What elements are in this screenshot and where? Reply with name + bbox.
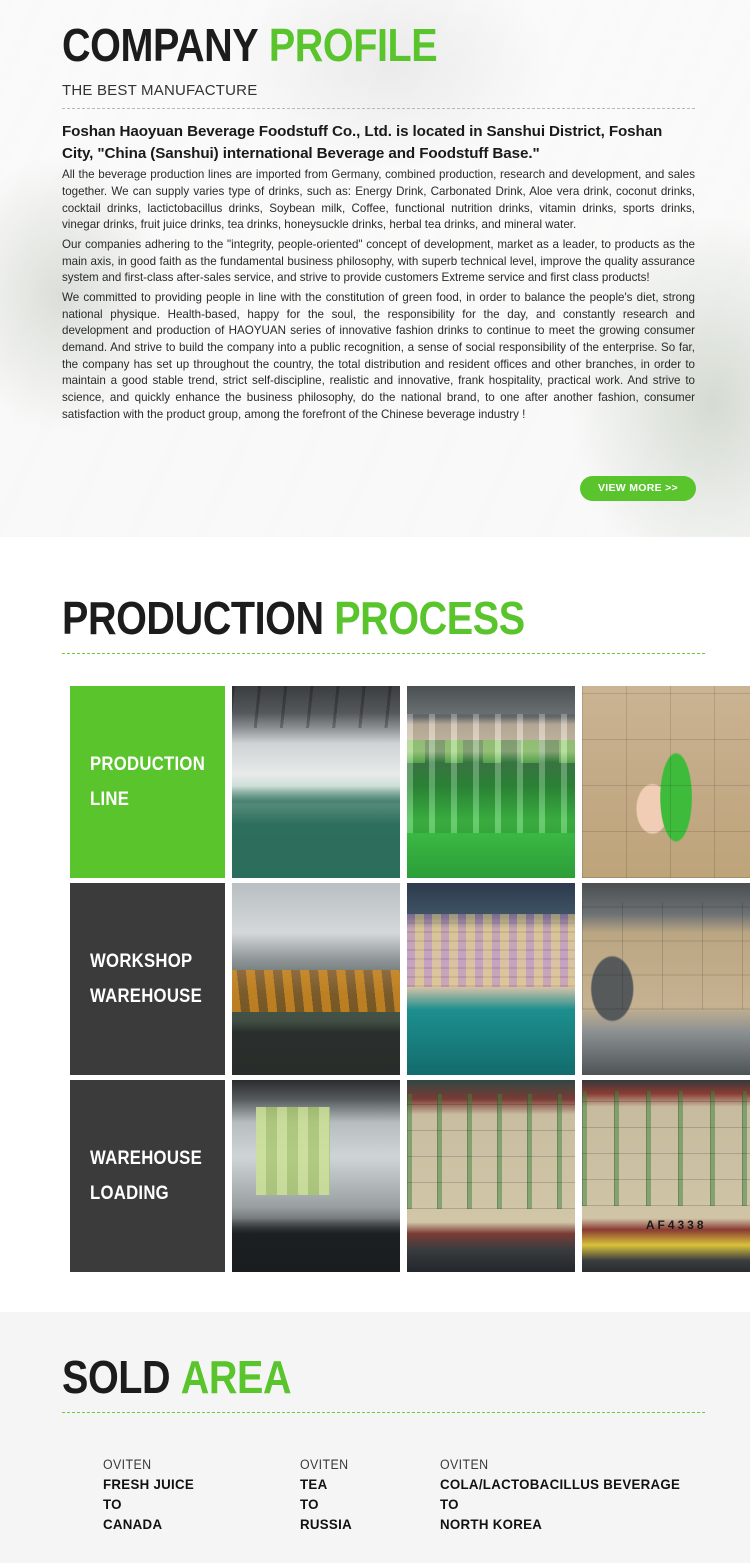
process-label-workshop-warehouse[interactable]: WORKSHOP WAREHOUSE bbox=[70, 883, 225, 1075]
process-label-line2: LINE bbox=[90, 782, 209, 817]
photo-container-loading-worker[interactable] bbox=[232, 1080, 400, 1272]
process-label-line1: WORKSHOP bbox=[90, 944, 209, 979]
container-plate-text: AF4338 bbox=[646, 1218, 707, 1232]
photo-hand-holding-vera-ton-bottle[interactable] bbox=[582, 686, 750, 878]
sold-product: COLA/LACTOBACILLUS BEVERAGE bbox=[440, 1475, 680, 1495]
process-row: PRODUCTION LINE bbox=[70, 686, 750, 878]
view-more-button[interactable]: VIEW MORE >> bbox=[580, 476, 696, 501]
page-title-dark: COMPANY bbox=[62, 19, 258, 71]
sold-brand: OVITEN bbox=[103, 1455, 284, 1475]
photo-stacked-pallets-warehouse[interactable] bbox=[407, 883, 575, 1075]
process-label-production-line[interactable]: PRODUCTION LINE bbox=[70, 686, 225, 878]
page-title-green: PROFILE bbox=[269, 19, 437, 71]
process-label-line2: WAREHOUSE bbox=[90, 979, 209, 1014]
photo-bottling-conveyor-line[interactable] bbox=[232, 883, 400, 1075]
photo-green-bottles-conveyor[interactable] bbox=[407, 686, 575, 878]
sold-destination: CANADA bbox=[103, 1515, 290, 1535]
company-profile-section: COMPANY PROFILE THE BEST MANUFACTURE Fos… bbox=[0, 0, 750, 537]
profile-paragraph-3: We committed to providing people in line… bbox=[62, 290, 695, 424]
sold-brand: OVITEN bbox=[300, 1455, 429, 1475]
profile-paragraph-2: Our companies adhering to the "integrity… bbox=[62, 237, 695, 287]
sold-area-section: SOLD AREA OVITEN FRESH JUICE TO CANADA O… bbox=[0, 1312, 750, 1563]
profile-lead-paragraph: Foshan Haoyuan Beverage Foodstuff Co., L… bbox=[62, 121, 695, 164]
production-process-section: PRODUCTION PROCESS PRODUCTION LINE WORKS… bbox=[0, 537, 750, 1312]
photo-container-truck-plate[interactable]: AF4338 bbox=[582, 1080, 750, 1272]
process-row: WAREHOUSE LOADING AF4338 bbox=[70, 1080, 750, 1272]
process-row: WORKSHOP WAREHOUSE bbox=[70, 883, 750, 1075]
page-title: COMPANY PROFILE bbox=[62, 22, 606, 68]
profile-paragraph-1: All the beverage production lines are im… bbox=[62, 167, 695, 234]
process-label-line1: PRODUCTION bbox=[90, 747, 209, 782]
view-more-row: VIEW MORE >> bbox=[0, 476, 750, 501]
sold-area-title-dark: SOLD bbox=[62, 1351, 170, 1403]
process-label-line1: WAREHOUSE bbox=[90, 1141, 209, 1176]
sold-product: FRESH JUICE bbox=[103, 1475, 290, 1495]
sold-area-title: SOLD AREA bbox=[62, 1354, 615, 1400]
sold-area-column: OVITEN FRESH JUICE TO CANADA bbox=[103, 1455, 300, 1535]
sold-to: TO bbox=[300, 1495, 433, 1515]
profile-subtitle: THE BEST MANUFACTURE bbox=[62, 82, 695, 99]
production-process-title-green: PROCESS bbox=[334, 592, 524, 644]
production-process-title: PRODUCTION PROCESS bbox=[62, 595, 615, 641]
production-process-divider bbox=[62, 653, 705, 654]
production-process-grid: PRODUCTION LINE WORKSHOP WAREHOUSE bbox=[0, 686, 750, 1272]
profile-divider bbox=[62, 108, 695, 109]
sold-to: TO bbox=[103, 1495, 290, 1515]
sold-area-columns: OVITEN FRESH JUICE TO CANADA OVITEN TEA … bbox=[0, 1413, 750, 1535]
sold-area-column: OVITEN TEA TO RUSSIA bbox=[300, 1455, 440, 1535]
sold-area-title-green: AREA bbox=[181, 1351, 291, 1403]
process-label-line2: LOADING bbox=[90, 1176, 209, 1211]
production-process-title-dark: PRODUCTION bbox=[62, 592, 324, 644]
company-profile-page: COMPANY PROFILE THE BEST MANUFACTURE Fos… bbox=[0, 0, 750, 1563]
sold-product: TEA bbox=[300, 1475, 433, 1495]
sold-destination: NORTH KOREA bbox=[440, 1515, 680, 1535]
sold-brand: OVITEN bbox=[440, 1455, 673, 1475]
process-label-warehouse-loading[interactable]: WAREHOUSE LOADING bbox=[70, 1080, 225, 1272]
photo-forklift-loading-cartons[interactable] bbox=[582, 883, 750, 1075]
sold-destination: RUSSIA bbox=[300, 1515, 433, 1535]
photo-production-hall[interactable] bbox=[232, 686, 400, 878]
sold-area-column: OVITEN COLA/LACTOBACILLUS BEVERAGE TO NO… bbox=[440, 1455, 693, 1535]
photo-container-fully-loaded[interactable] bbox=[407, 1080, 575, 1272]
sold-to: TO bbox=[440, 1495, 680, 1515]
